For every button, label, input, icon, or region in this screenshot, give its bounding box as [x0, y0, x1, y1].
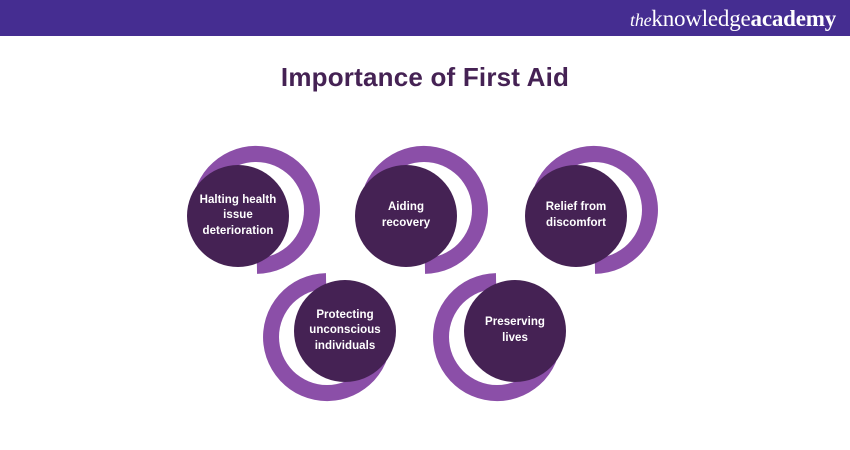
- circle-cluster-diagram: Halting health issue deterioration Aidin…: [0, 0, 850, 450]
- node-disc: Preserving lives: [464, 280, 566, 382]
- diagram-node-preserving-lives[interactable]: Preserving lives: [422, 262, 572, 412]
- node-label: Preserving lives: [473, 315, 557, 346]
- node-disc: Relief from discomfort: [525, 165, 627, 267]
- node-label: Protecting unconscious individuals: [303, 308, 387, 355]
- node-disc: Aiding recovery: [355, 165, 457, 267]
- node-label: Halting health issue deterioration: [196, 193, 280, 240]
- node-label: Relief from discomfort: [534, 200, 618, 231]
- diagram-node-protecting-unconscious-individuals[interactable]: Protecting unconscious individuals: [252, 262, 402, 412]
- node-disc: Halting health issue deterioration: [187, 165, 289, 267]
- node-disc: Protecting unconscious individuals: [294, 280, 396, 382]
- node-label: Aiding recovery: [364, 200, 448, 231]
